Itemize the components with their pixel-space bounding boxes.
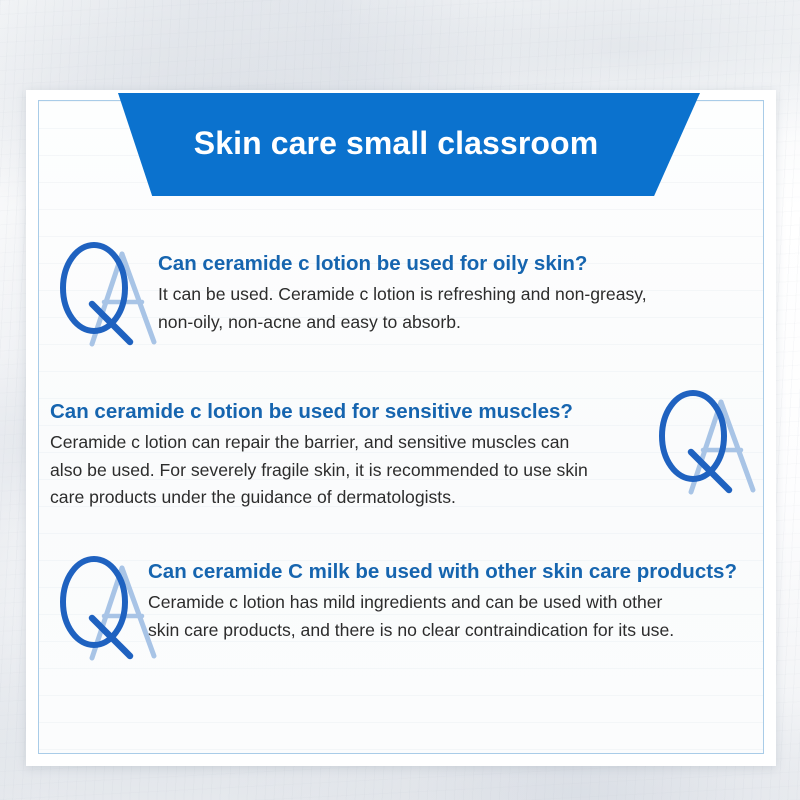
- qa-answer-line: also be used. For severely fragile skin,…: [50, 457, 588, 485]
- page-title: Skin care small classroom: [194, 125, 599, 162]
- qa-answer-1: It can be used. Ceramide c lotion is ref…: [158, 281, 647, 336]
- qa-question-3: Can ceramide C milk be used with other s…: [148, 558, 737, 585]
- qa-block-1: Can ceramide c lotion be used for oily s…: [158, 250, 647, 336]
- qa-question-2: Can ceramide c lotion be used for sensit…: [50, 398, 588, 425]
- qa-answer-line: non-oily, non-acne and easy to absorb.: [158, 309, 647, 337]
- qa-answer-line: Ceramide c lotion has mild ingredients a…: [148, 589, 737, 617]
- qa-answer-line: skin care products, and there is no clea…: [148, 617, 737, 645]
- qa-answer-2: Ceramide c lotion can repair the barrier…: [50, 429, 588, 512]
- qa-block-3: Can ceramide C milk be used with other s…: [148, 558, 737, 644]
- qa-answer-line: It can be used. Ceramide c lotion is ref…: [158, 281, 647, 309]
- banner-ribbon: Skin care small classroom: [96, 93, 700, 196]
- qa-answer-line: care products under the guidance of derm…: [50, 484, 588, 512]
- qa-question-1: Can ceramide c lotion be used for oily s…: [158, 250, 647, 277]
- qa-answer-3: Ceramide c lotion has mild ingredients a…: [148, 589, 737, 644]
- qa-block-2: Can ceramide c lotion be used for sensit…: [50, 398, 588, 512]
- qa-answer-line: Ceramide c lotion can repair the barrier…: [50, 429, 588, 457]
